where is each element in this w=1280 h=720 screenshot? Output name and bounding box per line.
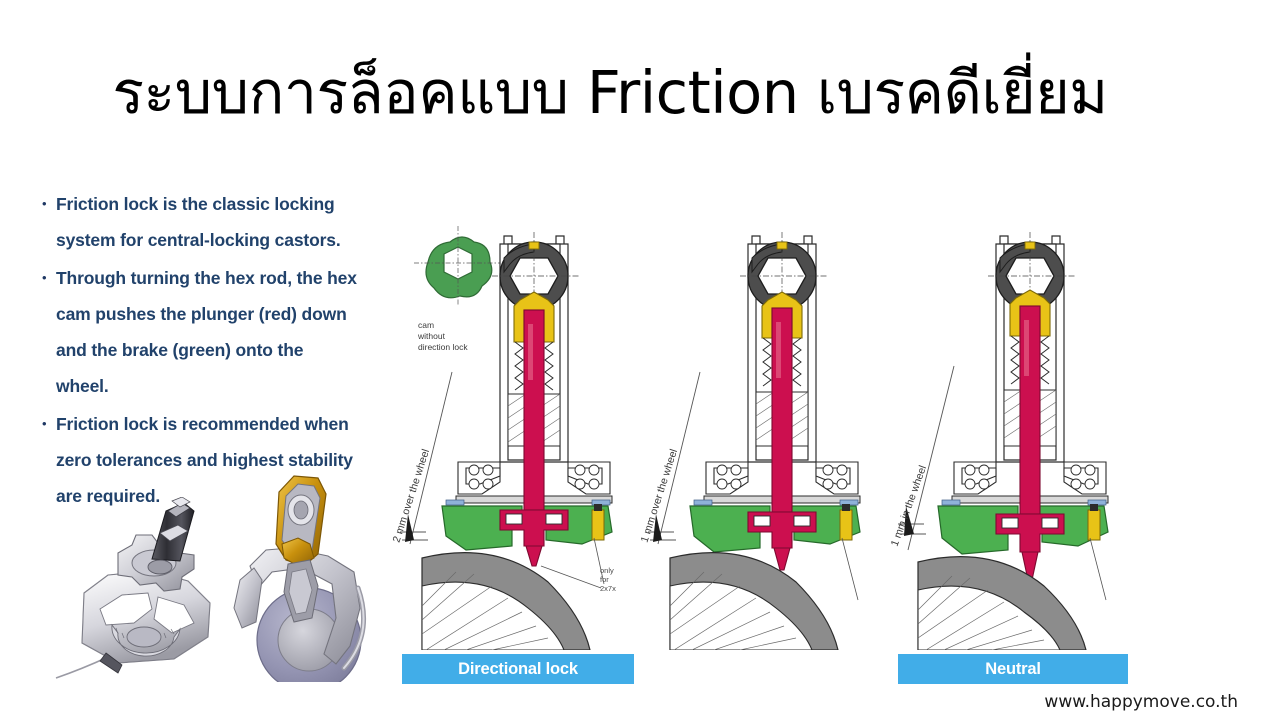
list-item-line: Friction lock is the classic locking <box>56 186 341 222</box>
seal <box>694 500 712 505</box>
leader-line <box>842 538 858 600</box>
diagram-neutral: 1 mm over the wheel Neutral <box>644 214 890 684</box>
list-item-body: Through turning the hex rod, the hex cam… <box>56 260 357 404</box>
seal <box>446 500 464 505</box>
bullet-marker-icon: • <box>40 186 56 222</box>
list-item-line: and the brake (green) onto the <box>56 332 357 368</box>
bullet-marker-icon: • <box>40 406 56 442</box>
diagram-directional-lock: cam without direction lock 2 mm over the… <box>396 214 642 684</box>
list-item-line: system for central-locking castors. <box>56 222 341 258</box>
friction-lock-mechanism-photo <box>48 497 234 682</box>
list-item-line: Through turning the hex rod, the hex <box>56 260 357 296</box>
list-item-line: cam pushes the plunger (red) down <box>56 296 357 332</box>
bullet-marker-icon: • <box>40 260 56 296</box>
wheel <box>422 553 590 650</box>
gold-lever <box>276 476 326 566</box>
slide-canvas: ระบบการล็อคแบบ Friction เบรคดีเยี่ยม • F… <box>0 0 1280 720</box>
diagram-total: 1 mm in the wheel Total <box>892 214 1138 684</box>
diagram-group: cam without direction lock 2 mm over the… <box>396 214 1144 684</box>
leader-line <box>1090 538 1106 600</box>
diagram-caption-directional-lock: Directional lock <box>402 654 634 684</box>
list-item-body: Friction lock is the classic locking sys… <box>56 186 341 258</box>
castor-cross-section-svg <box>892 214 1138 650</box>
list-item-line: Friction lock is recommended when <box>56 406 353 442</box>
cam-inset-note: cam without direction lock <box>418 320 468 353</box>
only-for-note: only for 2x7x <box>600 566 616 593</box>
wheel <box>670 553 838 650</box>
footer-url: www.happymove.co.th <box>1044 692 1238 712</box>
bullet-list: • Friction lock is the classic locking s… <box>40 186 415 516</box>
seal <box>942 500 960 505</box>
list-item: • Through turning the hex rod, the hex c… <box>40 260 415 404</box>
cam-inset <box>414 226 504 306</box>
list-item: • Friction lock is the classic locking s… <box>40 186 415 258</box>
castor-cross-section-svg <box>644 214 890 650</box>
hex-shaft <box>152 497 194 561</box>
castor-assembly-photo <box>232 468 407 682</box>
page-title: ระบบการล็อคแบบ Friction เบรคดีเยี่ยม <box>60 62 1160 124</box>
wheel <box>918 557 1086 650</box>
list-item-line: wheel. <box>56 368 357 404</box>
